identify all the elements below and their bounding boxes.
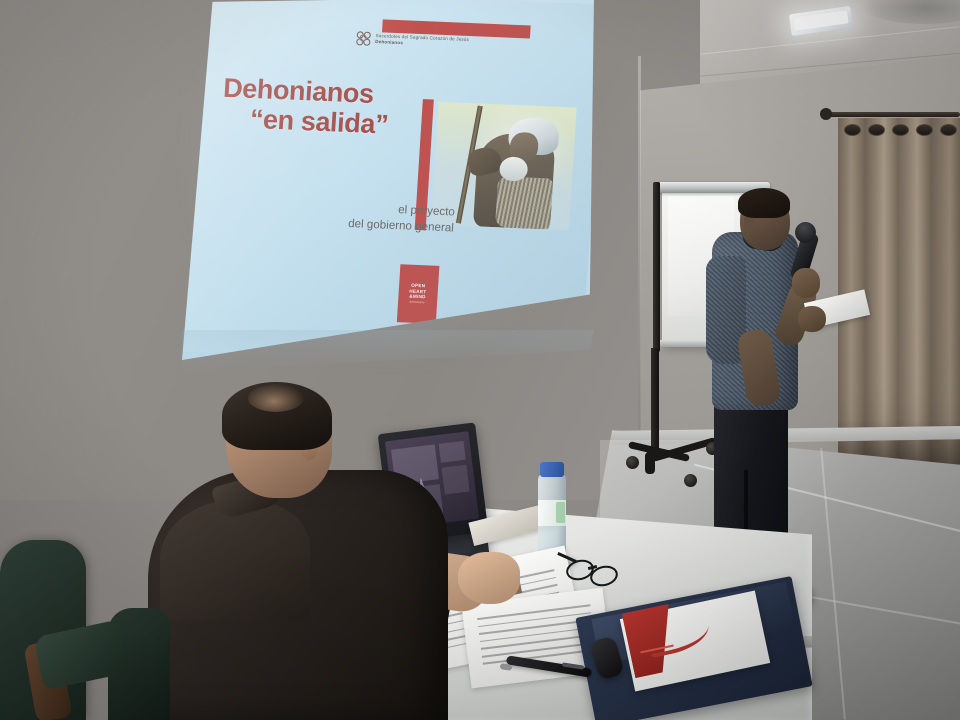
presentation-room-photo: Sacerdotes del Sagrado Corazón de Jesús …: [0, 0, 960, 720]
photo-vignette: [0, 0, 960, 720]
